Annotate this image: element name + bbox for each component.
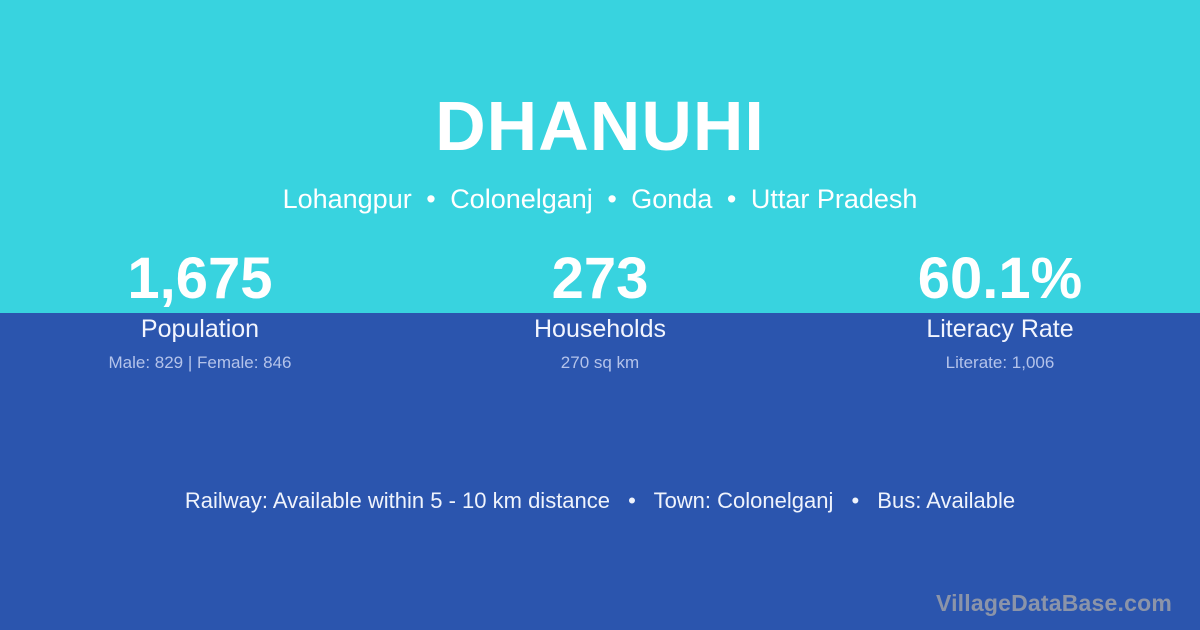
amenity-railway: Railway: Available within 5 - 10 km dist… [185,488,610,513]
stats-row: 1,675 Population Male: 829 | Female: 846… [0,0,1200,400]
amenity-bus: Bus: Available [877,488,1015,513]
stat-label: Population [0,314,400,345]
stat-value: 60.1% [800,246,1200,312]
stat-sublabel: 270 sq km [400,352,800,374]
village-info-card: DHANUHI Lohangpur • Colonelganj • Gonda … [0,0,1200,630]
stat-value: 1,675 [0,246,400,312]
site-brand: VillageDataBase.com [936,589,1172,617]
amenity-town: Town: Colonelganj [654,488,834,513]
amenity-separator: • [839,488,871,513]
stat-sublabel: Literate: 1,006 [800,352,1200,374]
stat-label: Households [400,314,800,345]
stat-sublabel: Male: 829 | Female: 846 [0,352,400,374]
stat-value: 273 [400,246,800,312]
amenities-line: Railway: Available within 5 - 10 km dist… [0,486,1200,515]
stat-label: Literacy Rate [800,314,1200,345]
stat-population: 1,675 Population Male: 829 | Female: 846 [0,0,400,400]
amenity-separator: • [616,488,648,513]
stat-households: 273 Households 270 sq km [400,0,800,400]
stat-literacy-rate: 60.1% Literacy Rate Literate: 1,006 [800,0,1200,400]
